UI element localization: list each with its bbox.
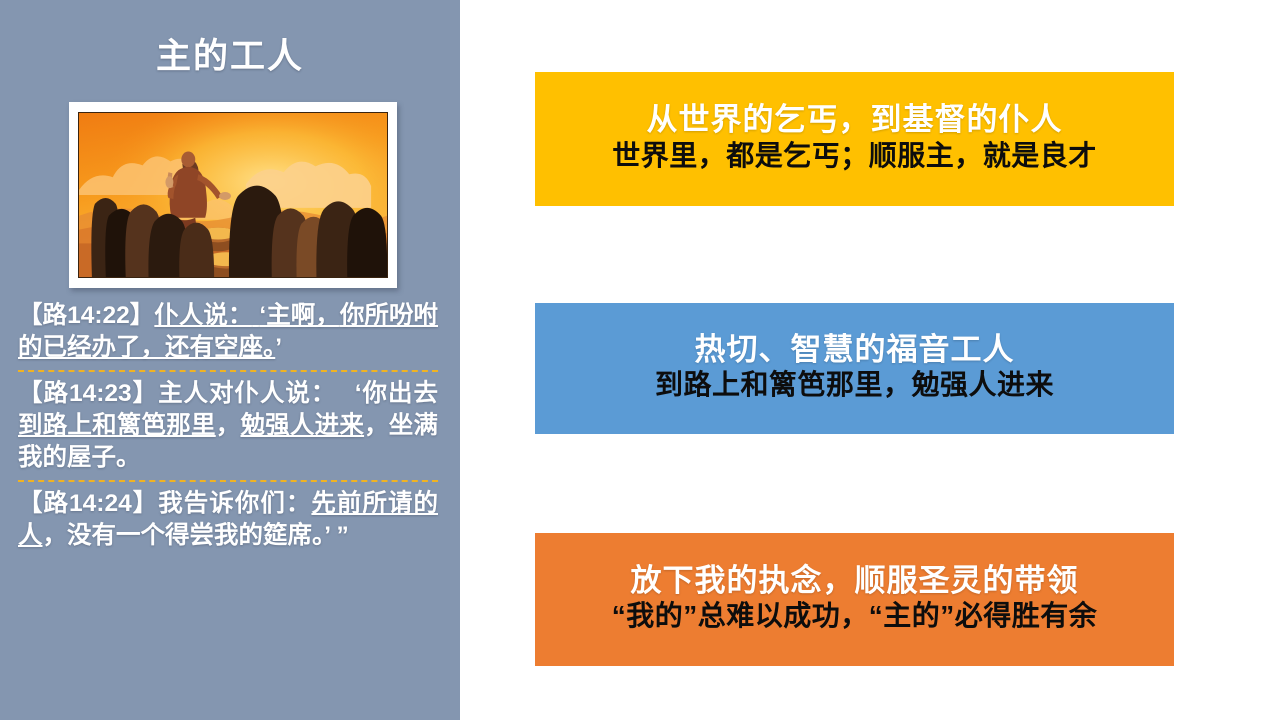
banner-subline-3: “我的”总难以成功，“主的”必得胜有余	[612, 599, 1098, 633]
banner-surrender-to-spirit: 放下我的执念，顺服圣灵的带领 “我的”总难以成功，“主的”必得胜有余	[535, 533, 1174, 666]
verse-text-2-a: 主人对仆人说：	[158, 380, 336, 407]
banner-subline-1: 世界里，都是乞丐；顺服主，就是良才	[612, 139, 1097, 173]
banner-headline-1: 从世界的乞丐，到基督的仆人	[647, 101, 1063, 139]
verse-text-1-b: ‘主啊，	[259, 302, 339, 329]
verse-list: 【路14:22】仆人说： ‘主啊，你所吩咐的已经办了，还有空座。’ 【路14:2…	[0, 300, 460, 552]
verse-reference-2: 【路14:23】	[18, 380, 158, 407]
sidebar-panel: 主的工人	[0, 0, 460, 720]
slide-canvas: 主的工人	[0, 0, 1280, 720]
verse-luke-14-24: 【路14:24】我告诉你们：先前所请的人，没有一个得尝我的筵席。’ ”	[0, 488, 460, 553]
verse-text-2-d: ，	[216, 412, 241, 439]
verse-text-1-d: ’	[275, 334, 282, 361]
picture-frame	[69, 102, 397, 288]
verse-text-3-c: ，没有一个得尝我的筵席。’ ”	[43, 522, 349, 549]
verse-text-1-a: 仆人说：	[154, 302, 252, 329]
verse-separator-1	[18, 370, 438, 372]
banner-from-beggar-to-servant: 从世界的乞丐，到基督的仆人 世界里，都是乞丐；顺服主，就是良才	[535, 72, 1174, 206]
verse-separator-2	[18, 480, 438, 482]
jesus-preaching-illustration	[78, 112, 388, 278]
verse-reference-3: 【路14:24】	[18, 490, 158, 517]
verse-text-2-c: 到路上和篱笆那里	[18, 412, 216, 439]
page-title: 主的工人	[0, 38, 460, 77]
banner-headline-2: 热切、智慧的福音工人	[695, 331, 1015, 369]
verse-text-2-b: ‘你出去	[355, 380, 438, 407]
banner-headline-3: 放下我的执念，顺服圣灵的带领	[631, 562, 1079, 600]
banner-subline-2: 到路上和篱笆那里，勉强人进来	[655, 368, 1054, 402]
verse-text-3-a: 我告诉你们：	[158, 490, 311, 517]
banner-zealous-wise-worker: 热切、智慧的福音工人 到路上和篱笆那里，勉强人进来	[535, 303, 1174, 434]
verse-text-2-e: 勉强人进来	[240, 412, 364, 439]
content-panel: 从世界的乞丐，到基督的仆人 世界里，都是乞丐；顺服主，就是良才 热切、智慧的福音…	[460, 0, 1280, 720]
verse-luke-14-22: 【路14:22】仆人说： ‘主啊，你所吩咐的已经办了，还有空座。’	[0, 300, 460, 365]
verse-luke-14-23: 【路14:23】主人对仆人说：‘你出去到路上和篱笆那里，勉强人进来，坐满我的屋子…	[0, 378, 460, 475]
verse-reference-1: 【路14:22】	[18, 302, 154, 329]
